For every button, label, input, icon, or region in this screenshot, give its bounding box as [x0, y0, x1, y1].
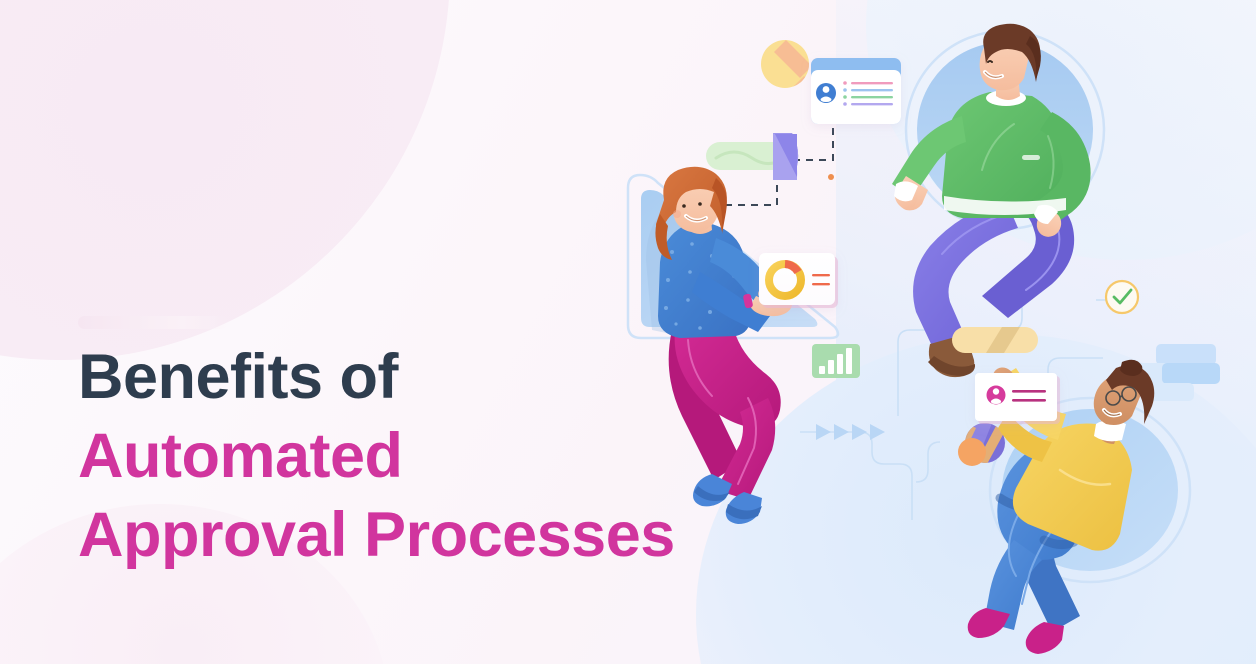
blue-block-3: [1162, 363, 1220, 384]
banner-root: Benefits of Automated Approval Processes: [0, 0, 1256, 664]
check-circle-icon: [1106, 281, 1138, 313]
character-woman-with-chart: [646, 167, 794, 524]
two-tone-ball-icon: [952, 423, 1005, 466]
connector-dot-orange: [828, 174, 834, 180]
striped-sphere-icon: [761, 40, 818, 94]
contact-list-card[interactable]: [811, 58, 901, 124]
blue-block-4: [1148, 383, 1194, 401]
beige-bar-decor: [952, 327, 1038, 353]
hero-illustration: [0, 0, 1256, 664]
bar-chart-icon: [812, 344, 860, 378]
donut-chart-card[interactable]: [759, 253, 838, 308]
approval-user-card[interactable]: [975, 373, 1060, 424]
blue-block-1: [1156, 344, 1216, 365]
